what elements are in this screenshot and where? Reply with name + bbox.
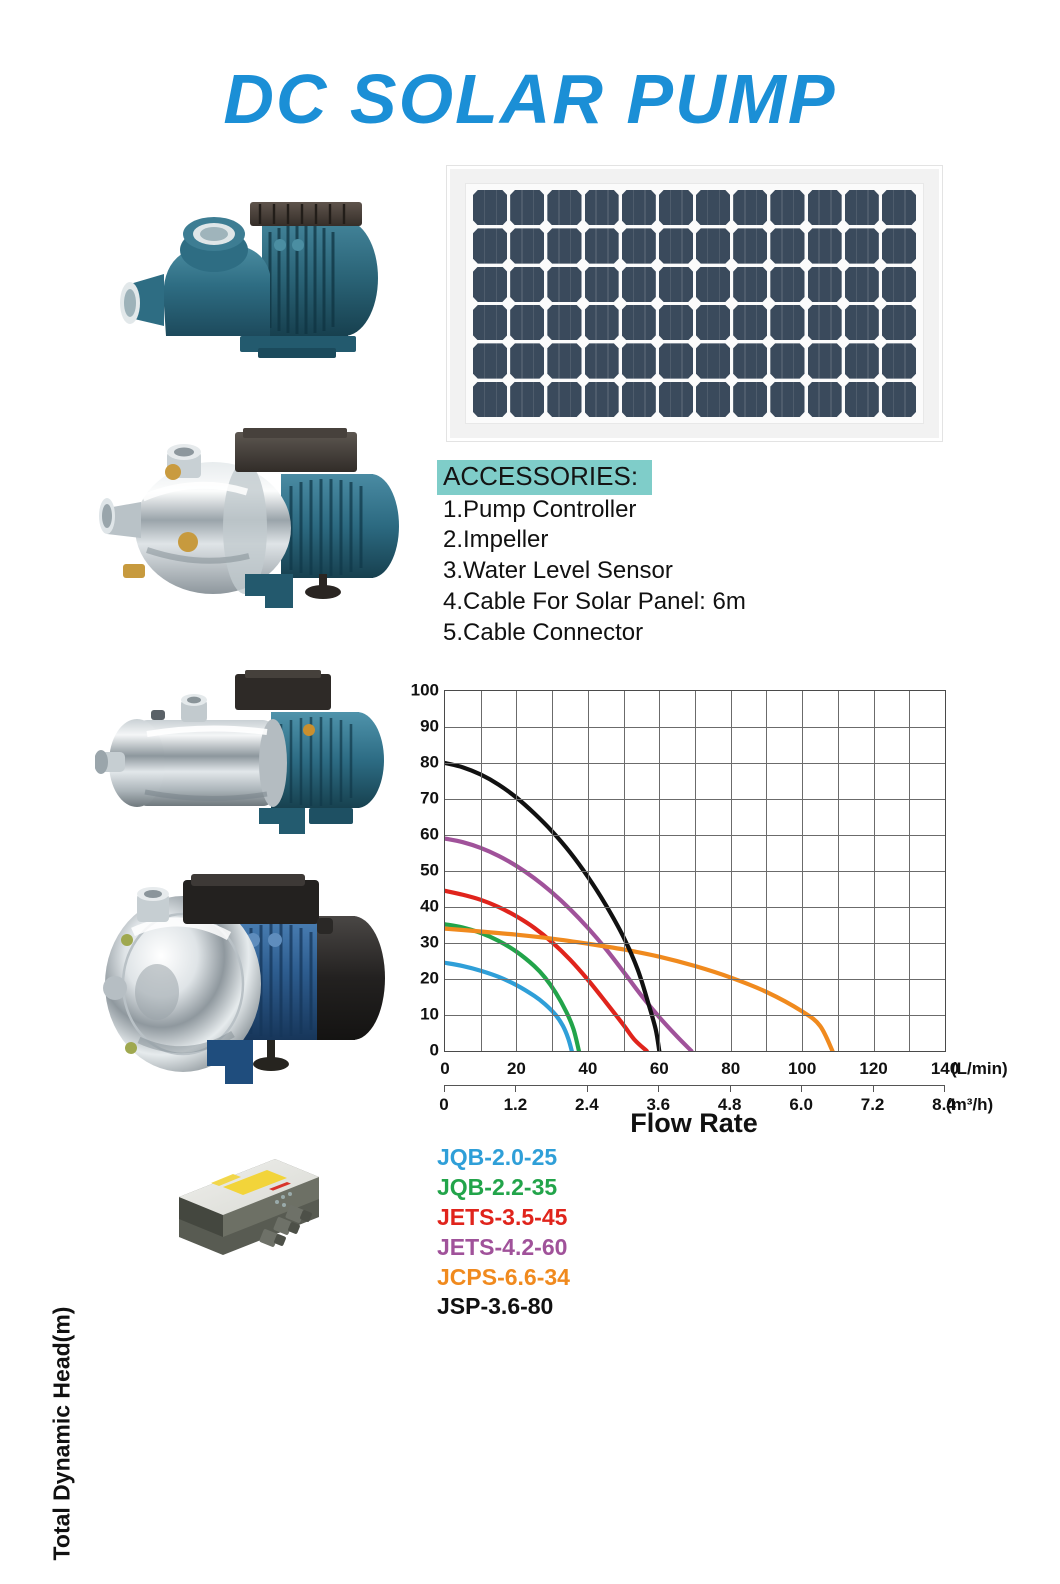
solar-cell [473,382,507,417]
chart-gridline-horizontal [445,799,945,800]
accessory-item: 3.Water Level Sensor [437,556,837,587]
solar-cell [622,382,656,417]
solar-cell [473,190,507,225]
secondary-axis-tick [444,1085,445,1092]
solar-cell [585,190,619,225]
solar-cell [510,267,544,302]
accessory-item: 1.Pump Controller [437,495,837,526]
chart-gridline-horizontal [445,1015,945,1016]
solar-cell [585,382,619,417]
solar-cell [696,343,730,378]
secondary-axis-tick [515,1085,516,1092]
solar-cell [882,382,916,417]
solar-cell [882,228,916,263]
solar-cell [696,382,730,417]
chart-x-tick-label-lpm: 40 [578,1059,597,1079]
solar-cell [845,267,879,302]
chart-gridline-horizontal [445,763,945,764]
secondary-axis-tick [658,1085,659,1092]
chart-x-tick-label-lpm: 0 [440,1059,449,1079]
chart-x-tick-label-lpm: 120 [859,1059,887,1079]
secondary-axis-tick [801,1085,802,1092]
chart-y-tick-label: 10 [420,1005,439,1025]
solar-cell [547,267,581,302]
chart-y-tick-label: 40 [420,897,439,917]
solar-cell [845,305,879,340]
solar-cell [696,267,730,302]
legend-item: JETS-4.2-60 [437,1233,570,1263]
solar-cell [770,190,804,225]
solar-cell [845,382,879,417]
secondary-axis-line [444,1085,944,1086]
solar-cell [547,305,581,340]
solar-cell [733,382,767,417]
jet-pump-image [95,424,410,619]
solar-cell [808,267,842,302]
pump-controller-image [165,1145,330,1270]
solar-cell [845,228,879,263]
solar-cell [622,228,656,263]
solar-cell [510,305,544,340]
solar-cell [622,305,656,340]
chart-x-tick-label-lpm: 60 [650,1059,669,1079]
chart-x-unit-lpm: (L/min) [951,1059,1008,1079]
legend-item: JETS-3.5-45 [437,1203,570,1233]
solar-cell [808,343,842,378]
solar-cell [585,228,619,263]
solar-panel-glass [465,183,924,424]
solar-cell [473,343,507,378]
solar-cell [510,190,544,225]
solar-cell [733,228,767,263]
chart-x-unit-m3h: (m³/h) [946,1095,993,1115]
chart-gridline-horizontal [445,943,945,944]
solar-cell [510,343,544,378]
solar-cell [733,267,767,302]
solar-cell [882,267,916,302]
accessories-block: ACCESSORIES: 1.Pump Controller 2.Impelle… [437,460,837,648]
solar-cell [882,305,916,340]
chart-legend: JQB-2.0-25JQB-2.2-35JETS-3.5-45JETS-4.2-… [437,1143,570,1322]
solar-cell [473,267,507,302]
solar-cell [733,343,767,378]
solar-cell [845,190,879,225]
solar-cell [547,190,581,225]
secondary-axis-tick [873,1085,874,1092]
legend-item: JCPS-6.6-34 [437,1263,570,1293]
solar-cell [659,343,693,378]
chart-x-tick-label-lpm: 100 [788,1059,816,1079]
solar-cell [882,343,916,378]
solar-cell [547,382,581,417]
chart-y-tick-label: 80 [420,753,439,773]
solar-cell [770,267,804,302]
chart-x-tick-label-lpm: 80 [721,1059,740,1079]
chart-gridline-horizontal [445,835,945,836]
chart-y-tick-label: 70 [420,789,439,809]
chart-y-tick-label: 50 [420,861,439,881]
performance-curve-chart: Total Dynamic Head(m) 010203040506070809… [0,660,1060,1160]
solar-cell [547,228,581,263]
legend-item: JSP-3.6-80 [437,1292,570,1322]
accessory-item: 4.Cable For Solar Panel: 6m [437,587,837,618]
chart-y-tick-label: 60 [420,825,439,845]
accessory-item: 5.Cable Connector [437,618,837,649]
solar-cell [659,305,693,340]
legend-item: JQB-2.0-25 [437,1143,570,1173]
secondary-axis-tick [944,1085,945,1092]
solar-cell [882,190,916,225]
solar-cell [808,382,842,417]
solar-cell [585,305,619,340]
accessory-item: 2.Impeller [437,525,837,556]
chart-gridline-horizontal [445,871,945,872]
chart-gridline-horizontal [445,727,945,728]
solar-cell [473,305,507,340]
solar-cell [696,305,730,340]
solar-cell [696,228,730,263]
solar-cell [547,343,581,378]
solar-cell [622,190,656,225]
solar-cell [659,267,693,302]
chart-y-tick-label: 30 [420,933,439,953]
chart-y-tick-label: 90 [420,717,439,737]
solar-cell [808,305,842,340]
chart-gridline-horizontal [445,907,945,908]
chart-y-tick-label: 0 [430,1041,439,1061]
solar-cell [510,228,544,263]
chart-y-axis-label: Total Dynamic Head(m) [49,1284,76,1584]
solar-cell [659,190,693,225]
secondary-axis-tick [587,1085,588,1092]
solar-cell [585,267,619,302]
accessories-heading: ACCESSORIES: [437,460,652,495]
peripheral-pump-image [112,188,402,373]
solar-cell [770,382,804,417]
solar-cell [659,228,693,263]
chart-y-tick-label: 100 [411,681,439,701]
solar-panel-image [447,166,942,441]
page-title: DC SOLAR PUMP [0,64,1060,134]
solar-cell [622,267,656,302]
chart-x-axis-label: Flow Rate [444,1108,944,1139]
solar-cell [808,190,842,225]
solar-cell [808,228,842,263]
solar-cell [622,343,656,378]
solar-cell [696,190,730,225]
solar-cell [770,228,804,263]
chart-gridline-horizontal [445,979,945,980]
chart-y-tick-label: 20 [420,969,439,989]
solar-cell [770,305,804,340]
chart-plot-area: 0102030405060708090100020406080100120140… [444,690,946,1052]
solar-cell [510,382,544,417]
legend-item: JQB-2.2-35 [437,1173,570,1203]
solar-cell [473,228,507,263]
secondary-axis-tick [730,1085,731,1092]
solar-cell-grid [473,190,916,417]
solar-cell [733,190,767,225]
chart-secondary-x-axis: 01.22.43.64.86.07.28.4(m³/h) [444,1085,944,1086]
solar-cell [770,343,804,378]
solar-cell [733,305,767,340]
solar-cell [585,343,619,378]
solar-cell [845,343,879,378]
chart-x-tick-label-lpm: 20 [507,1059,526,1079]
solar-cell [659,382,693,417]
